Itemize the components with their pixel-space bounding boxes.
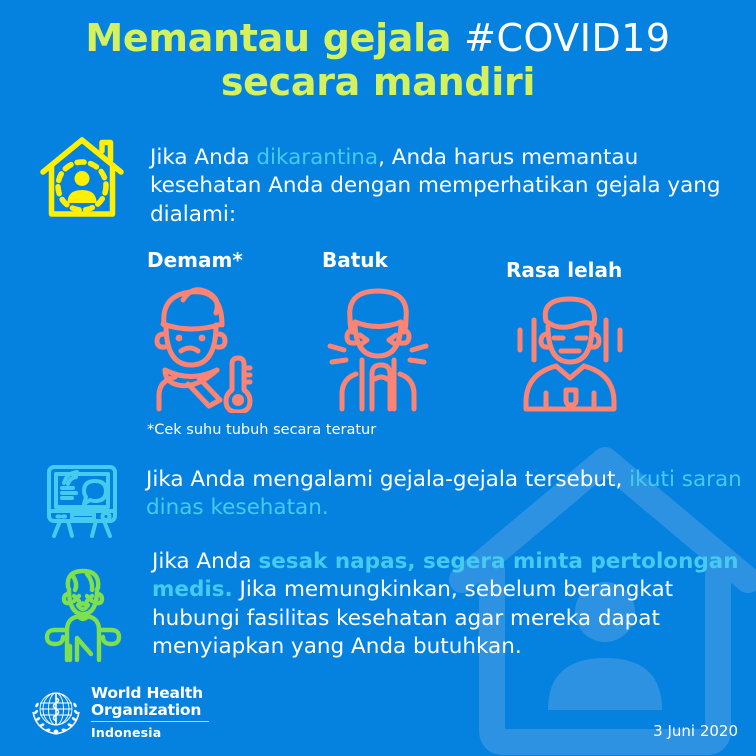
- title-line2-green: secara mandiri: [221, 60, 535, 104]
- quarantine-text: Jika Anda dikarantina, Anda harus memant…: [150, 144, 728, 229]
- section-advice: Jika Anda mengalami gejala-gejala terseb…: [42, 462, 742, 545]
- tv-announcement-icon: [42, 462, 122, 545]
- page-title: Memantau gejala #COVID19 secara mandiri: [0, 16, 756, 105]
- emergency-text: Jika Anda sesak napas, segera minta pert…: [152, 548, 746, 662]
- who-emblem-icon: [30, 685, 82, 737]
- symptom-label: Rasa lelah: [506, 258, 634, 282]
- who-footer-logo: World Health Organization Indonesia: [30, 685, 209, 740]
- title-line1-green: Memantau gejala: [85, 16, 464, 60]
- coughing-person-icon: [322, 278, 434, 413]
- symptom-item-fever: Demam*: [147, 248, 259, 418]
- title-line1-white: #COVID19: [464, 16, 670, 60]
- section-emergency: Jika Anda sesak napas, segera minta pert…: [40, 548, 746, 669]
- emergency-text-a: Jika Anda: [152, 549, 258, 574]
- symptom-item-fatigue: Rasa lelah: [506, 258, 634, 418]
- publication-date: 3 Juni 2020: [653, 722, 738, 740]
- who-name-line2: Organization: [91, 702, 209, 718]
- symptom-item-cough: Batuk: [322, 248, 434, 418]
- house-with-person-icon: [38, 134, 126, 227]
- advice-text-a: Jika Anda mengalami gejala-gejala terseb…: [146, 467, 629, 492]
- quarantine-text-a: Jika Anda: [150, 145, 256, 170]
- fatigue-person-icon: [506, 288, 634, 413]
- breathing-difficulty-icon: [40, 564, 126, 669]
- symptom-footnote: *Cek suhu tubuh secara teratur: [147, 422, 376, 438]
- who-divider: [91, 721, 209, 722]
- fever-person-thermometer-icon: [147, 278, 259, 413]
- who-country-label: Indonesia: [91, 725, 209, 740]
- advice-text: Jika Anda mengalami gejala-gejala terseb…: [146, 466, 742, 523]
- infographic-canvas: Memantau gejala #COVID19 secara mandiri: [0, 0, 756, 756]
- who-name-line1: World Health: [91, 685, 209, 701]
- symptom-list: Demam*: [0, 248, 756, 423]
- section-quarantine: Jika Anda dikarantina, Anda harus memant…: [38, 134, 728, 229]
- symptom-label: Demam*: [147, 248, 259, 272]
- quarantine-highlight: dikarantina: [256, 145, 378, 170]
- symptom-label: Batuk: [322, 248, 434, 272]
